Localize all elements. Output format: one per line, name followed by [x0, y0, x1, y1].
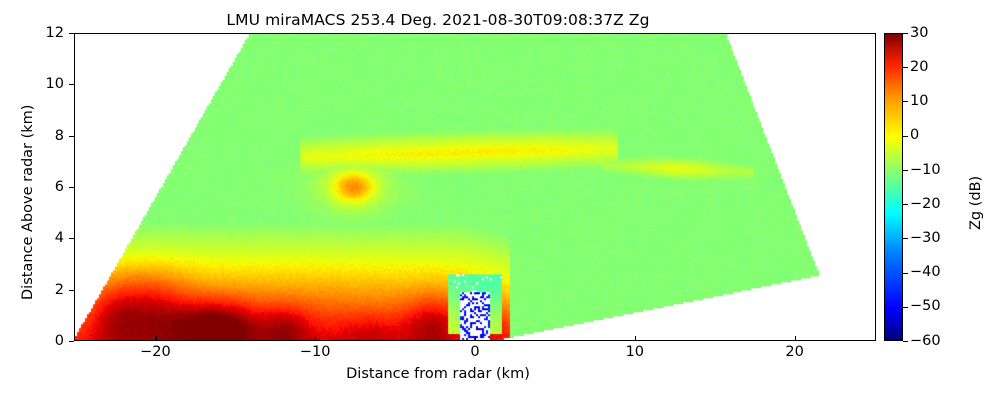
colorbar-tick-label: 10: [910, 93, 928, 109]
colorbar-tick: [903, 67, 908, 68]
colorbar-tick: [903, 273, 908, 274]
colorbar-tick-label: −60: [910, 333, 941, 349]
colorbar-tick-label: 20: [910, 59, 928, 75]
colorbar-tick: [903, 101, 908, 102]
y-tick-mark: [69, 33, 74, 34]
x-tick-label: 20: [765, 344, 825, 360]
reflectivity-heatmap: [75, 34, 875, 340]
colorbar: [884, 33, 903, 341]
x-tick-mark: [155, 336, 156, 341]
colorbar-tick-label: −30: [910, 230, 941, 246]
colorbar-tick: [903, 33, 908, 34]
radar-rhi-figure: LMU miraMACS 253.4 Deg. 2021-08-30T09:08…: [0, 0, 1000, 400]
x-axis-label: Distance from radar (km): [0, 366, 876, 382]
x-tick-label: −10: [285, 344, 345, 360]
colorbar-tick: [903, 136, 908, 137]
y-tick-label: 12: [30, 25, 64, 41]
x-tick-mark: [315, 336, 316, 341]
x-tick-label: 0: [445, 344, 505, 360]
colorbar-tick-label: −10: [910, 162, 941, 178]
colorbar-label: Zg (dB): [968, 176, 984, 230]
colorbar-tick: [903, 238, 908, 239]
plot-title: LMU miraMACS 253.4 Deg. 2021-08-30T09:08…: [0, 11, 876, 29]
colorbar-tick: [903, 170, 908, 171]
colorbar-tick: [903, 341, 908, 342]
colorbar-tick-label: −20: [910, 196, 941, 212]
x-tick-label: −20: [125, 344, 185, 360]
y-tick-label: 10: [30, 76, 64, 92]
y-tick-mark: [69, 187, 74, 188]
colorbar-tick-label: −50: [910, 298, 941, 314]
x-tick-mark: [635, 336, 636, 341]
x-tick-mark: [795, 336, 796, 341]
y-tick-label: 0: [30, 333, 64, 349]
y-tick-mark: [69, 84, 74, 85]
y-axis-label: Distance Above radar (km): [20, 105, 36, 300]
colorbar-tick: [903, 204, 908, 205]
colorbar-tick-label: 30: [910, 25, 928, 41]
y-tick-mark: [69, 290, 74, 291]
colorbar-tick-label: 0: [910, 127, 919, 143]
x-tick-label: 10: [605, 344, 665, 360]
colorbar-tick-label: −40: [910, 264, 941, 280]
y-tick-mark: [69, 136, 74, 137]
colorbar-tick: [903, 307, 908, 308]
plot-area: [74, 33, 876, 341]
y-tick-mark: [69, 238, 74, 239]
x-tick-mark: [475, 336, 476, 341]
y-tick-mark: [69, 341, 74, 342]
